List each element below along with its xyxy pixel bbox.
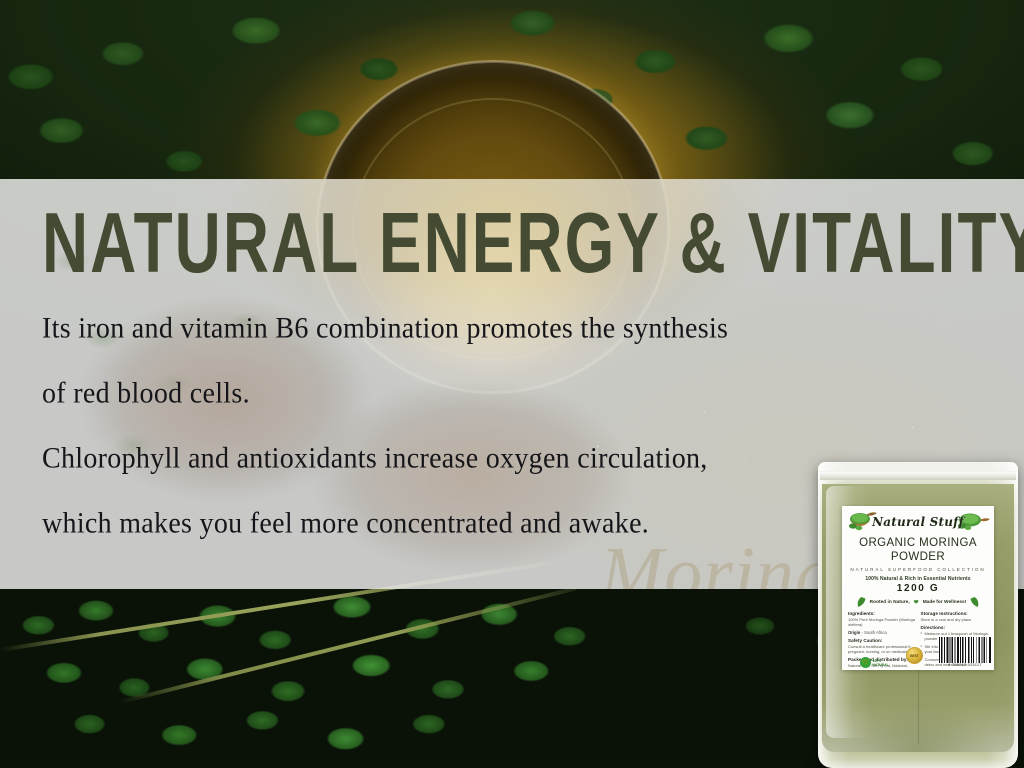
natural-badge: 🌿 100% NATURAL [860, 657, 889, 668]
natural-leaf-icon: 🌿 [860, 657, 871, 668]
storage-heading: Storage Instructions: [921, 611, 989, 616]
body-line-4: which makes you feel more concentrated a… [42, 493, 942, 553]
tagline-left: Rooted in Nature, [870, 600, 910, 605]
tagline-row: Rooted in Nature, ❤ Made for Wellness! [846, 597, 990, 608]
origin-line: Origin - South Africa [848, 630, 916, 635]
origin-value: - South Africa [862, 630, 887, 635]
origin-label: Origin [848, 630, 860, 635]
body-line-3: Chlorophyll and antioxidants increase ox… [42, 428, 942, 488]
barcode-number: 6 009717 025117 [939, 663, 991, 667]
headline: NATURAL ENERGY & VITALITY BOOST [42, 200, 1000, 288]
body-line-1: Its iron and vitamin B6 combination prom… [42, 298, 942, 358]
product-name: ORGANIC MORINGA POWDER [846, 536, 990, 564]
moringa-branch-bottom-left [0, 585, 640, 768]
label-badges: 6 009717 025117 [939, 637, 991, 667]
direction-item: Use regularly to promote radiant skin, s… [921, 669, 989, 670]
product-label: Natural Stuff ORGANIC MORINGA POWDER NAT… [842, 506, 994, 670]
ingredients-text: 100% Pure Moringa Powder (Moringa oleife… [848, 617, 916, 628]
natural-badge-line2: NATURAL [873, 663, 889, 667]
body-line-2: of red blood cells. [42, 363, 942, 423]
net-weight: 1200 G [846, 583, 990, 594]
tagline-right: Made for Wellness! [923, 600, 967, 605]
product-claim: 100% Natural & Rich in Essential Nutrien… [846, 576, 990, 582]
natural-badge-text: 100% NATURAL [873, 659, 889, 667]
brand-name: Natural Stuff [872, 515, 964, 529]
product-name-line1: ORGANIC MORINGA [846, 536, 990, 550]
storage-text: Store in a cool and dry place [921, 617, 989, 622]
ingredients-heading: Ingredients: [848, 611, 916, 616]
product-name-line2: POWDER [846, 550, 990, 564]
directions-heading: Directions: [921, 625, 989, 630]
pouch-zip-top [820, 471, 1016, 480]
quality-seal-icon: BEST [906, 647, 923, 664]
product-pouch[interactable]: Natural Stuff ORGANIC MORINGA POWDER NAT… [818, 462, 1018, 768]
barcode [939, 637, 991, 663]
leaf-icon-left [857, 597, 866, 608]
body-copy: Its iron and vitamin B6 combination prom… [42, 300, 942, 560]
promo-poster: Moringa NATURAL ENERGY & VITALITY BOOST … [0, 0, 1024, 768]
safety-heading: Safety Caution: [848, 638, 916, 643]
brand-row: Natural Stuff [846, 509, 990, 535]
heart-icon: ❤ [914, 600, 919, 606]
collection-subtitle: NATURAL SUPERFOOD COLLECTION [846, 567, 990, 572]
leaf-icon-right [970, 597, 979, 608]
